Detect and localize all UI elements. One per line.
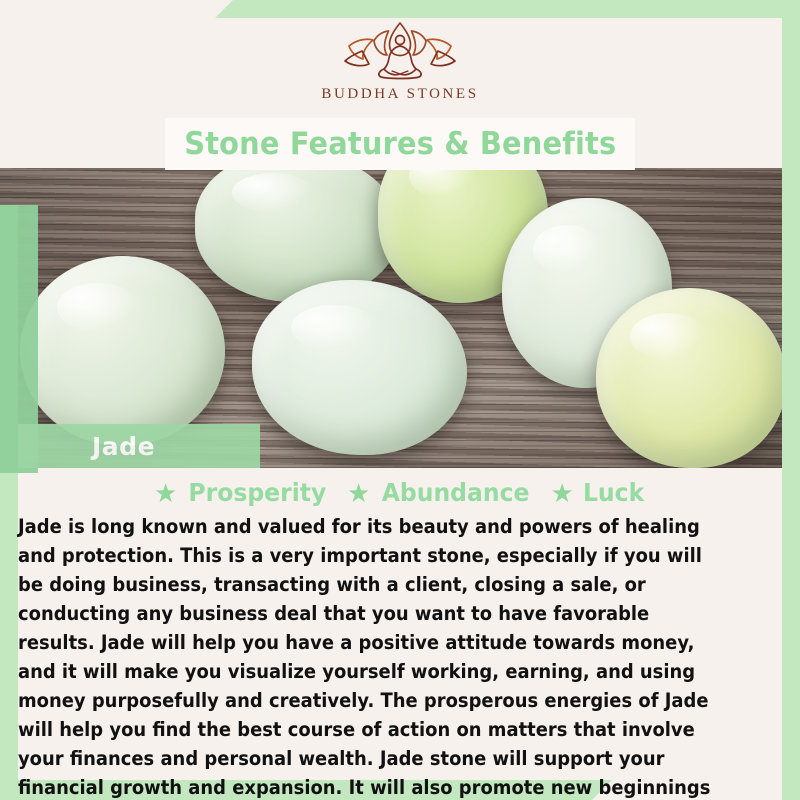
stone-description: Jade is long known and valued for its be… xyxy=(18,512,717,800)
star-icon: ★ xyxy=(551,480,574,506)
stone-name: Jade xyxy=(92,432,155,461)
benefit-item: ★ Prosperity xyxy=(154,478,331,507)
benefit-item: ★ Abundance xyxy=(347,478,535,507)
benefits-row: ★ Prosperity ★ Abundance ★ Luck xyxy=(0,478,800,507)
jade-stone xyxy=(596,288,786,468)
brand-wordmark: BUDDHA STONES xyxy=(321,86,478,103)
benefit-label: Abundance xyxy=(382,478,530,507)
stone-name-band: Jade xyxy=(18,424,260,468)
stone-photo xyxy=(0,168,800,468)
jade-stone xyxy=(20,256,225,446)
star-icon: ★ xyxy=(154,480,177,506)
page-title: Stone Features & Benefits xyxy=(184,126,616,162)
brand-header: BUDDHA STONES xyxy=(0,0,800,120)
benefit-label: Prosperity xyxy=(189,478,327,507)
benefit-label: Luck xyxy=(583,478,644,507)
page-title-band: Stone Features & Benefits xyxy=(165,118,635,169)
lotus-meditation-icon xyxy=(340,18,460,80)
star-icon: ★ xyxy=(347,480,370,506)
benefit-item: ★ Luck xyxy=(551,478,647,507)
decorative-right-bar xyxy=(782,0,800,800)
poster-canvas: BUDDHA STONES Stone Features & Benefits … xyxy=(0,0,800,800)
